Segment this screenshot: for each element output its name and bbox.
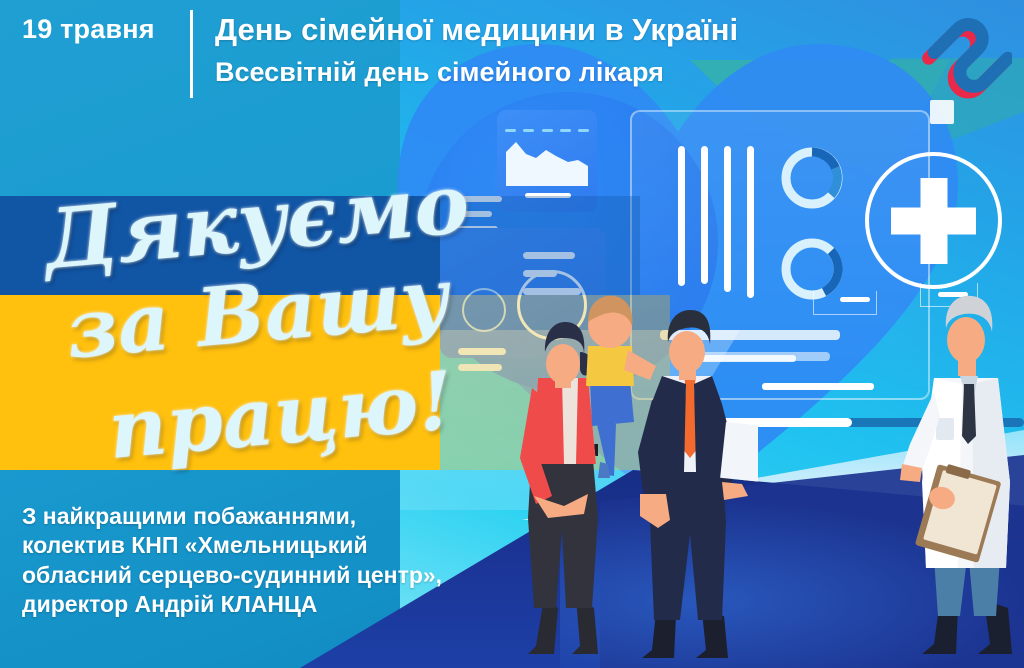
poster-canvas: Дякуємо за Вашу працю! 19 травня День сі… <box>0 0 1024 668</box>
signature-line-1: З найкращими побажаннями, <box>22 502 522 531</box>
flag-blue-stripe <box>0 196 440 295</box>
flag-yellow-stripe <box>0 295 440 470</box>
signature-line-2: колектив КНП «Хмельницький <box>22 531 522 560</box>
panel-line-1 <box>762 383 874 390</box>
signature-line-3: обласний серцево-судинний центр», <box>22 561 522 590</box>
illustration-man <box>618 272 758 668</box>
interlocking-heart-logo <box>916 8 1012 100</box>
illustration-doctor <box>900 268 1024 668</box>
signature-block: З найкращими побажаннями, колектив КНП «… <box>22 502 522 620</box>
page-title: День сімейної медицини в Україні <box>215 12 738 48</box>
header-divider <box>190 10 193 98</box>
area-chart-graphic <box>506 136 588 186</box>
cross-horizontal-bar <box>891 207 976 234</box>
signature-line-4: директор Андрій КЛАНЦА <box>22 590 522 619</box>
chart-tick-marks <box>505 129 589 132</box>
page-subtitle: Всесвітній день сімейного лікаря <box>215 57 664 88</box>
date-label: 19 травня <box>22 14 155 45</box>
donut-chart-upper <box>779 145 845 211</box>
header-bar: 19 травня День сімейної медицини в Украї… <box>0 0 1024 110</box>
callout-box-1 <box>813 291 877 315</box>
callout-dash-1 <box>840 297 870 302</box>
